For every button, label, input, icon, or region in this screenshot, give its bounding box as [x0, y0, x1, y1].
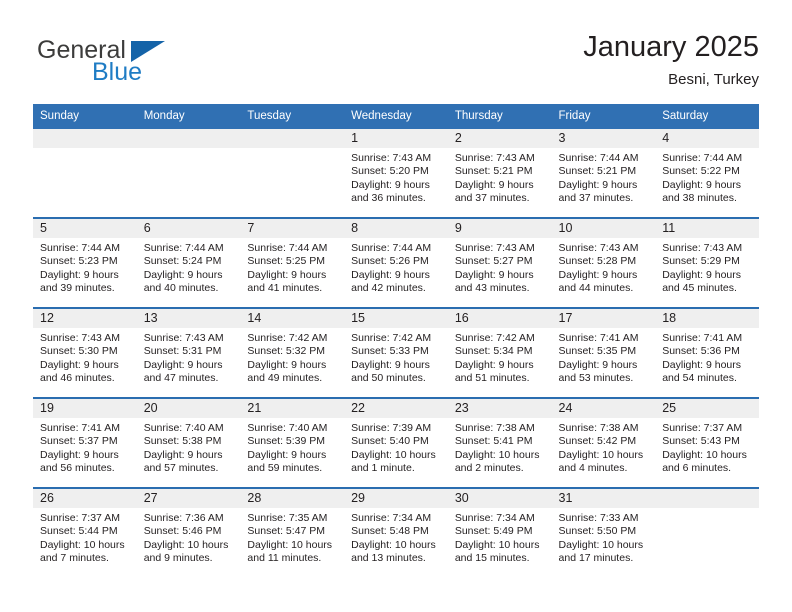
day-number: 9	[448, 219, 552, 238]
day-number: 17	[552, 309, 656, 328]
sunset-text: Sunset: 5:35 PM	[559, 345, 650, 358]
sunrise-text: Sunrise: 7:38 AM	[559, 422, 650, 435]
sunrise-text: Sunrise: 7:42 AM	[455, 332, 546, 345]
day-number: 29	[344, 489, 448, 508]
sunset-text: Sunset: 5:47 PM	[247, 525, 338, 538]
day-details: Sunrise: 7:41 AMSunset: 5:37 PMDaylight:…	[33, 418, 137, 476]
daylight-text-line1: Daylight: 9 hours	[559, 179, 650, 192]
day-details: Sunrise: 7:43 AMSunset: 5:28 PMDaylight:…	[552, 238, 656, 296]
sunset-text: Sunset: 5:23 PM	[40, 255, 131, 268]
sunrise-text: Sunrise: 7:43 AM	[455, 242, 546, 255]
day-number: 28	[240, 489, 344, 508]
sunset-text: Sunset: 5:37 PM	[40, 435, 131, 448]
daylight-text-line2: and 9 minutes.	[144, 552, 235, 565]
day-number: 10	[552, 219, 656, 238]
day-number: 8	[344, 219, 448, 238]
calendar-day-cell[interactable]: 27Sunrise: 7:36 AMSunset: 5:46 PMDayligh…	[137, 488, 241, 577]
daylight-text-line1: Daylight: 9 hours	[351, 359, 442, 372]
calendar-day-cell[interactable]: 26Sunrise: 7:37 AMSunset: 5:44 PMDayligh…	[33, 488, 137, 577]
calendar-day-cell[interactable]: 11Sunrise: 7:43 AMSunset: 5:29 PMDayligh…	[655, 218, 759, 308]
sunrise-text: Sunrise: 7:41 AM	[40, 422, 131, 435]
title-block: January 2025 Besni, Turkey	[583, 30, 759, 90]
day-number: 2	[448, 129, 552, 148]
sunrise-text: Sunrise: 7:41 AM	[559, 332, 650, 345]
day-number: 7	[240, 219, 344, 238]
sunset-text: Sunset: 5:28 PM	[559, 255, 650, 268]
daylight-text-line1: Daylight: 9 hours	[351, 269, 442, 282]
sunrise-text: Sunrise: 7:34 AM	[351, 512, 442, 525]
day-number: 3	[552, 129, 656, 148]
day-number: 19	[33, 399, 137, 418]
calendar-body: 1Sunrise: 7:43 AMSunset: 5:20 PMDaylight…	[33, 129, 759, 577]
sunrise-text: Sunrise: 7:42 AM	[247, 332, 338, 345]
sunset-text: Sunset: 5:26 PM	[351, 255, 442, 268]
sunset-text: Sunset: 5:25 PM	[247, 255, 338, 268]
daylight-text-line2: and 42 minutes.	[351, 282, 442, 295]
sunrise-text: Sunrise: 7:40 AM	[144, 422, 235, 435]
day-details: Sunrise: 7:44 AMSunset: 5:24 PMDaylight:…	[137, 238, 241, 296]
weekday-header-sunday: Sunday	[33, 104, 137, 129]
daylight-text-line1: Daylight: 9 hours	[662, 179, 753, 192]
sunset-text: Sunset: 5:27 PM	[455, 255, 546, 268]
daylight-text-line1: Daylight: 9 hours	[455, 359, 546, 372]
weekday-header-row: Sunday Monday Tuesday Wednesday Thursday…	[33, 104, 759, 129]
daylight-text-line2: and 56 minutes.	[40, 462, 131, 475]
day-number: 22	[344, 399, 448, 418]
sunrise-text: Sunrise: 7:35 AM	[247, 512, 338, 525]
calendar-day-cell[interactable]: 19Sunrise: 7:41 AMSunset: 5:37 PMDayligh…	[33, 398, 137, 488]
day-details: Sunrise: 7:44 AMSunset: 5:22 PMDaylight:…	[655, 148, 759, 206]
calendar-day-cell[interactable]: 2Sunrise: 7:43 AMSunset: 5:21 PMDaylight…	[448, 129, 552, 218]
sunset-text: Sunset: 5:46 PM	[144, 525, 235, 538]
sunset-text: Sunset: 5:50 PM	[559, 525, 650, 538]
day-number: 15	[344, 309, 448, 328]
daylight-text-line1: Daylight: 9 hours	[455, 269, 546, 282]
daylight-text-line2: and 44 minutes.	[559, 282, 650, 295]
daylight-text-line1: Daylight: 9 hours	[247, 269, 338, 282]
day-details: Sunrise: 7:42 AMSunset: 5:32 PMDaylight:…	[240, 328, 344, 386]
calendar-day-cell[interactable]: 24Sunrise: 7:38 AMSunset: 5:42 PMDayligh…	[552, 398, 656, 488]
daylight-text-line1: Daylight: 9 hours	[40, 359, 131, 372]
sunset-text: Sunset: 5:32 PM	[247, 345, 338, 358]
sunrise-text: Sunrise: 7:43 AM	[662, 242, 753, 255]
daylight-text-line2: and 46 minutes.	[40, 372, 131, 385]
sunset-text: Sunset: 5:42 PM	[559, 435, 650, 448]
sunrise-text: Sunrise: 7:33 AM	[559, 512, 650, 525]
sunrise-text: Sunrise: 7:39 AM	[351, 422, 442, 435]
day-details: Sunrise: 7:37 AMSunset: 5:43 PMDaylight:…	[655, 418, 759, 476]
calendar-day-cell[interactable]: 16Sunrise: 7:42 AMSunset: 5:34 PMDayligh…	[448, 308, 552, 398]
daylight-text-line2: and 2 minutes.	[455, 462, 546, 475]
daylight-text-line2: and 37 minutes.	[455, 192, 546, 205]
daylight-text-line1: Daylight: 9 hours	[455, 179, 546, 192]
sunset-text: Sunset: 5:31 PM	[144, 345, 235, 358]
day-details: Sunrise: 7:37 AMSunset: 5:44 PMDaylight:…	[33, 508, 137, 566]
calendar-day-cell[interactable]: 4Sunrise: 7:44 AMSunset: 5:22 PMDaylight…	[655, 129, 759, 218]
sunset-text: Sunset: 5:30 PM	[40, 345, 131, 358]
sunrise-text: Sunrise: 7:44 AM	[40, 242, 131, 255]
daylight-text-line1: Daylight: 10 hours	[40, 539, 131, 552]
daylight-text-line1: Daylight: 10 hours	[662, 449, 753, 462]
calendar-day-cell[interactable]: 29Sunrise: 7:34 AMSunset: 5:48 PMDayligh…	[344, 488, 448, 577]
daylight-text-line1: Daylight: 9 hours	[662, 269, 753, 282]
calendar-day-cell-empty	[33, 129, 137, 218]
daylight-text-line2: and 57 minutes.	[144, 462, 235, 475]
daylight-text-line2: and 37 minutes.	[559, 192, 650, 205]
daylight-text-line2: and 17 minutes.	[559, 552, 650, 565]
sunrise-text: Sunrise: 7:41 AM	[662, 332, 753, 345]
calendar-week-row: 26Sunrise: 7:37 AMSunset: 5:44 PMDayligh…	[33, 488, 759, 577]
daylight-text-line2: and 15 minutes.	[455, 552, 546, 565]
day-details: Sunrise: 7:41 AMSunset: 5:36 PMDaylight:…	[655, 328, 759, 386]
daylight-text-line2: and 6 minutes.	[662, 462, 753, 475]
calendar-day-cell[interactable]: 25Sunrise: 7:37 AMSunset: 5:43 PMDayligh…	[655, 398, 759, 488]
sunset-text: Sunset: 5:40 PM	[351, 435, 442, 448]
day-number: 31	[552, 489, 656, 508]
sunrise-text: Sunrise: 7:43 AM	[144, 332, 235, 345]
day-number: 27	[137, 489, 241, 508]
calendar-day-cell[interactable]: 15Sunrise: 7:42 AMSunset: 5:33 PMDayligh…	[344, 308, 448, 398]
sunrise-text: Sunrise: 7:44 AM	[351, 242, 442, 255]
sunrise-text: Sunrise: 7:43 AM	[351, 152, 442, 165]
daylight-text-line1: Daylight: 10 hours	[351, 539, 442, 552]
day-number	[655, 489, 759, 508]
calendar-day-cell[interactable]: 23Sunrise: 7:38 AMSunset: 5:41 PMDayligh…	[448, 398, 552, 488]
calendar-day-cell[interactable]: 7Sunrise: 7:44 AMSunset: 5:25 PMDaylight…	[240, 218, 344, 308]
calendar-day-cell[interactable]: 9Sunrise: 7:43 AMSunset: 5:27 PMDaylight…	[448, 218, 552, 308]
sunset-text: Sunset: 5:48 PM	[351, 525, 442, 538]
day-details: Sunrise: 7:38 AMSunset: 5:42 PMDaylight:…	[552, 418, 656, 476]
daylight-text-line1: Daylight: 9 hours	[247, 449, 338, 462]
sunrise-text: Sunrise: 7:43 AM	[40, 332, 131, 345]
day-number: 18	[655, 309, 759, 328]
calendar-day-cell[interactable]: 17Sunrise: 7:41 AMSunset: 5:35 PMDayligh…	[552, 308, 656, 398]
page-subtitle-location: Besni, Turkey	[583, 70, 759, 90]
day-number: 21	[240, 399, 344, 418]
calendar-day-cell[interactable]: 8Sunrise: 7:44 AMSunset: 5:26 PMDaylight…	[344, 218, 448, 308]
day-number: 24	[552, 399, 656, 418]
sunset-text: Sunset: 5:20 PM	[351, 165, 442, 178]
daylight-text-line1: Daylight: 10 hours	[559, 539, 650, 552]
page-title: January 2025	[583, 30, 759, 64]
calendar-day-cell-empty	[240, 129, 344, 218]
weekday-header-thursday: Thursday	[448, 104, 552, 129]
calendar-day-cell[interactable]: 12Sunrise: 7:43 AMSunset: 5:30 PMDayligh…	[33, 308, 137, 398]
daylight-text-line2: and 41 minutes.	[247, 282, 338, 295]
sunset-text: Sunset: 5:33 PM	[351, 345, 442, 358]
daylight-text-line1: Daylight: 9 hours	[662, 359, 753, 372]
weekday-header-wednesday: Wednesday	[344, 104, 448, 129]
day-number: 1	[344, 129, 448, 148]
daylight-text-line1: Daylight: 9 hours	[40, 269, 131, 282]
calendar-week-row: 1Sunrise: 7:43 AMSunset: 5:20 PMDaylight…	[33, 129, 759, 218]
day-number: 30	[448, 489, 552, 508]
daylight-text-line2: and 53 minutes.	[559, 372, 650, 385]
daylight-text-line2: and 51 minutes.	[455, 372, 546, 385]
day-details: Sunrise: 7:44 AMSunset: 5:21 PMDaylight:…	[552, 148, 656, 206]
calendar-day-cell[interactable]: 22Sunrise: 7:39 AMSunset: 5:40 PMDayligh…	[344, 398, 448, 488]
sunrise-text: Sunrise: 7:44 AM	[247, 242, 338, 255]
daylight-text-line2: and 49 minutes.	[247, 372, 338, 385]
day-details: Sunrise: 7:43 AMSunset: 5:27 PMDaylight:…	[448, 238, 552, 296]
day-details: Sunrise: 7:43 AMSunset: 5:29 PMDaylight:…	[655, 238, 759, 296]
day-number: 12	[33, 309, 137, 328]
daylight-text-line1: Daylight: 10 hours	[559, 449, 650, 462]
sunset-text: Sunset: 5:49 PM	[455, 525, 546, 538]
sunset-text: Sunset: 5:34 PM	[455, 345, 546, 358]
sunset-text: Sunset: 5:38 PM	[144, 435, 235, 448]
sunrise-text: Sunrise: 7:40 AM	[247, 422, 338, 435]
calendar-day-cell[interactable]: 28Sunrise: 7:35 AMSunset: 5:47 PMDayligh…	[240, 488, 344, 577]
daylight-text-line1: Daylight: 10 hours	[455, 539, 546, 552]
calendar-week-row: 5Sunrise: 7:44 AMSunset: 5:23 PMDaylight…	[33, 218, 759, 308]
calendar-table: Sunday Monday Tuesday Wednesday Thursday…	[33, 104, 759, 577]
day-details: Sunrise: 7:34 AMSunset: 5:49 PMDaylight:…	[448, 508, 552, 566]
daylight-text-line1: Daylight: 10 hours	[351, 449, 442, 462]
day-number: 4	[655, 129, 759, 148]
sunrise-text: Sunrise: 7:42 AM	[351, 332, 442, 345]
sunset-text: Sunset: 5:44 PM	[40, 525, 131, 538]
logo-text-blue: Blue	[92, 58, 142, 86]
day-details: Sunrise: 7:36 AMSunset: 5:46 PMDaylight:…	[137, 508, 241, 566]
day-details: Sunrise: 7:38 AMSunset: 5:41 PMDaylight:…	[448, 418, 552, 476]
calendar-day-cell[interactable]: 14Sunrise: 7:42 AMSunset: 5:32 PMDayligh…	[240, 308, 344, 398]
daylight-text-line2: and 47 minutes.	[144, 372, 235, 385]
calendar-grid: Sunday Monday Tuesday Wednesday Thursday…	[33, 104, 759, 577]
sunset-text: Sunset: 5:21 PM	[455, 165, 546, 178]
sunset-text: Sunset: 5:29 PM	[662, 255, 753, 268]
calendar-page: General Blue January 2025 Besni, Turkey …	[0, 0, 792, 612]
calendar-week-row: 19Sunrise: 7:41 AMSunset: 5:37 PMDayligh…	[33, 398, 759, 488]
calendar-day-cell[interactable]: 1Sunrise: 7:43 AMSunset: 5:20 PMDaylight…	[344, 129, 448, 218]
day-details: Sunrise: 7:44 AMSunset: 5:25 PMDaylight:…	[240, 238, 344, 296]
calendar-day-cell[interactable]: 21Sunrise: 7:40 AMSunset: 5:39 PMDayligh…	[240, 398, 344, 488]
day-details: Sunrise: 7:40 AMSunset: 5:38 PMDaylight:…	[137, 418, 241, 476]
day-number: 11	[655, 219, 759, 238]
day-number: 5	[33, 219, 137, 238]
calendar-day-cell[interactable]: 20Sunrise: 7:40 AMSunset: 5:38 PMDayligh…	[137, 398, 241, 488]
sunrise-text: Sunrise: 7:44 AM	[559, 152, 650, 165]
day-details: Sunrise: 7:43 AMSunset: 5:20 PMDaylight:…	[344, 148, 448, 206]
day-number: 23	[448, 399, 552, 418]
daylight-text-line1: Daylight: 9 hours	[144, 269, 235, 282]
day-details: Sunrise: 7:43 AMSunset: 5:21 PMDaylight:…	[448, 148, 552, 206]
daylight-text-line2: and 54 minutes.	[662, 372, 753, 385]
calendar-day-cell[interactable]: 13Sunrise: 7:43 AMSunset: 5:31 PMDayligh…	[137, 308, 241, 398]
calendar-day-cell-empty	[655, 488, 759, 577]
calendar-day-cell[interactable]: 10Sunrise: 7:43 AMSunset: 5:28 PMDayligh…	[552, 218, 656, 308]
daylight-text-line1: Daylight: 9 hours	[559, 269, 650, 282]
daylight-text-line1: Daylight: 9 hours	[144, 449, 235, 462]
day-number: 14	[240, 309, 344, 328]
daylight-text-line1: Daylight: 9 hours	[247, 359, 338, 372]
page-header: General Blue January 2025 Besni, Turkey	[33, 30, 759, 98]
daylight-text-line2: and 1 minute.	[351, 462, 442, 475]
sunrise-text: Sunrise: 7:43 AM	[455, 152, 546, 165]
day-number: 16	[448, 309, 552, 328]
day-details: Sunrise: 7:39 AMSunset: 5:40 PMDaylight:…	[344, 418, 448, 476]
day-details: Sunrise: 7:42 AMSunset: 5:34 PMDaylight:…	[448, 328, 552, 386]
sunrise-text: Sunrise: 7:37 AM	[40, 512, 131, 525]
daylight-text-line2: and 7 minutes.	[40, 552, 131, 565]
daylight-text-line2: and 13 minutes.	[351, 552, 442, 565]
day-number: 13	[137, 309, 241, 328]
day-number	[33, 129, 137, 148]
sunset-text: Sunset: 5:36 PM	[662, 345, 753, 358]
sunrise-text: Sunrise: 7:34 AM	[455, 512, 546, 525]
daylight-text-line2: and 36 minutes.	[351, 192, 442, 205]
sunrise-text: Sunrise: 7:36 AM	[144, 512, 235, 525]
daylight-text-line1: Daylight: 9 hours	[559, 359, 650, 372]
daylight-text-line2: and 59 minutes.	[247, 462, 338, 475]
day-number	[137, 129, 241, 148]
calendar-day-cell[interactable]: 5Sunrise: 7:44 AMSunset: 5:23 PMDaylight…	[33, 218, 137, 308]
sunrise-text: Sunrise: 7:37 AM	[662, 422, 753, 435]
weekday-header-tuesday: Tuesday	[240, 104, 344, 129]
calendar-day-cell[interactable]: 6Sunrise: 7:44 AMSunset: 5:24 PMDaylight…	[137, 218, 241, 308]
day-details: Sunrise: 7:41 AMSunset: 5:35 PMDaylight:…	[552, 328, 656, 386]
sunrise-text: Sunrise: 7:44 AM	[662, 152, 753, 165]
sunset-text: Sunset: 5:21 PM	[559, 165, 650, 178]
daylight-text-line2: and 38 minutes.	[662, 192, 753, 205]
day-details: Sunrise: 7:40 AMSunset: 5:39 PMDaylight:…	[240, 418, 344, 476]
daylight-text-line1: Daylight: 10 hours	[247, 539, 338, 552]
day-details: Sunrise: 7:35 AMSunset: 5:47 PMDaylight:…	[240, 508, 344, 566]
sunrise-text: Sunrise: 7:38 AM	[455, 422, 546, 435]
day-number: 6	[137, 219, 241, 238]
day-details: Sunrise: 7:43 AMSunset: 5:31 PMDaylight:…	[137, 328, 241, 386]
sunset-text: Sunset: 5:22 PM	[662, 165, 753, 178]
daylight-text-line1: Daylight: 10 hours	[144, 539, 235, 552]
day-number: 20	[137, 399, 241, 418]
sunset-text: Sunset: 5:24 PM	[144, 255, 235, 268]
calendar-day-cell[interactable]: 31Sunrise: 7:33 AMSunset: 5:50 PMDayligh…	[552, 488, 656, 577]
daylight-text-line2: and 40 minutes.	[144, 282, 235, 295]
calendar-day-cell[interactable]: 3Sunrise: 7:44 AMSunset: 5:21 PMDaylight…	[552, 129, 656, 218]
sunset-text: Sunset: 5:39 PM	[247, 435, 338, 448]
general-blue-logo[interactable]: General Blue	[33, 36, 263, 92]
daylight-text-line2: and 50 minutes.	[351, 372, 442, 385]
calendar-day-cell-empty	[137, 129, 241, 218]
weekday-header-friday: Friday	[552, 104, 656, 129]
daylight-text-line2: and 43 minutes.	[455, 282, 546, 295]
calendar-week-row: 12Sunrise: 7:43 AMSunset: 5:30 PMDayligh…	[33, 308, 759, 398]
daylight-text-line1: Daylight: 9 hours	[351, 179, 442, 192]
calendar-day-cell[interactable]: 30Sunrise: 7:34 AMSunset: 5:49 PMDayligh…	[448, 488, 552, 577]
sunset-text: Sunset: 5:41 PM	[455, 435, 546, 448]
weekday-header-monday: Monday	[137, 104, 241, 129]
daylight-text-line2: and 39 minutes.	[40, 282, 131, 295]
day-details: Sunrise: 7:34 AMSunset: 5:48 PMDaylight:…	[344, 508, 448, 566]
daylight-text-line1: Daylight: 9 hours	[40, 449, 131, 462]
day-details: Sunrise: 7:33 AMSunset: 5:50 PMDaylight:…	[552, 508, 656, 566]
daylight-text-line2: and 11 minutes.	[247, 552, 338, 565]
day-details: Sunrise: 7:42 AMSunset: 5:33 PMDaylight:…	[344, 328, 448, 386]
daylight-text-line1: Daylight: 10 hours	[455, 449, 546, 462]
daylight-text-line2: and 4 minutes.	[559, 462, 650, 475]
day-number: 26	[33, 489, 137, 508]
daylight-text-line1: Daylight: 9 hours	[144, 359, 235, 372]
day-details: Sunrise: 7:43 AMSunset: 5:30 PMDaylight:…	[33, 328, 137, 386]
day-details: Sunrise: 7:44 AMSunset: 5:23 PMDaylight:…	[33, 238, 137, 296]
sunrise-text: Sunrise: 7:43 AM	[559, 242, 650, 255]
sunset-text: Sunset: 5:43 PM	[662, 435, 753, 448]
weekday-header-saturday: Saturday	[655, 104, 759, 129]
day-details: Sunrise: 7:44 AMSunset: 5:26 PMDaylight:…	[344, 238, 448, 296]
daylight-text-line2: and 45 minutes.	[662, 282, 753, 295]
sunrise-text: Sunrise: 7:44 AM	[144, 242, 235, 255]
day-number: 25	[655, 399, 759, 418]
calendar-day-cell[interactable]: 18Sunrise: 7:41 AMSunset: 5:36 PMDayligh…	[655, 308, 759, 398]
day-number	[240, 129, 344, 148]
